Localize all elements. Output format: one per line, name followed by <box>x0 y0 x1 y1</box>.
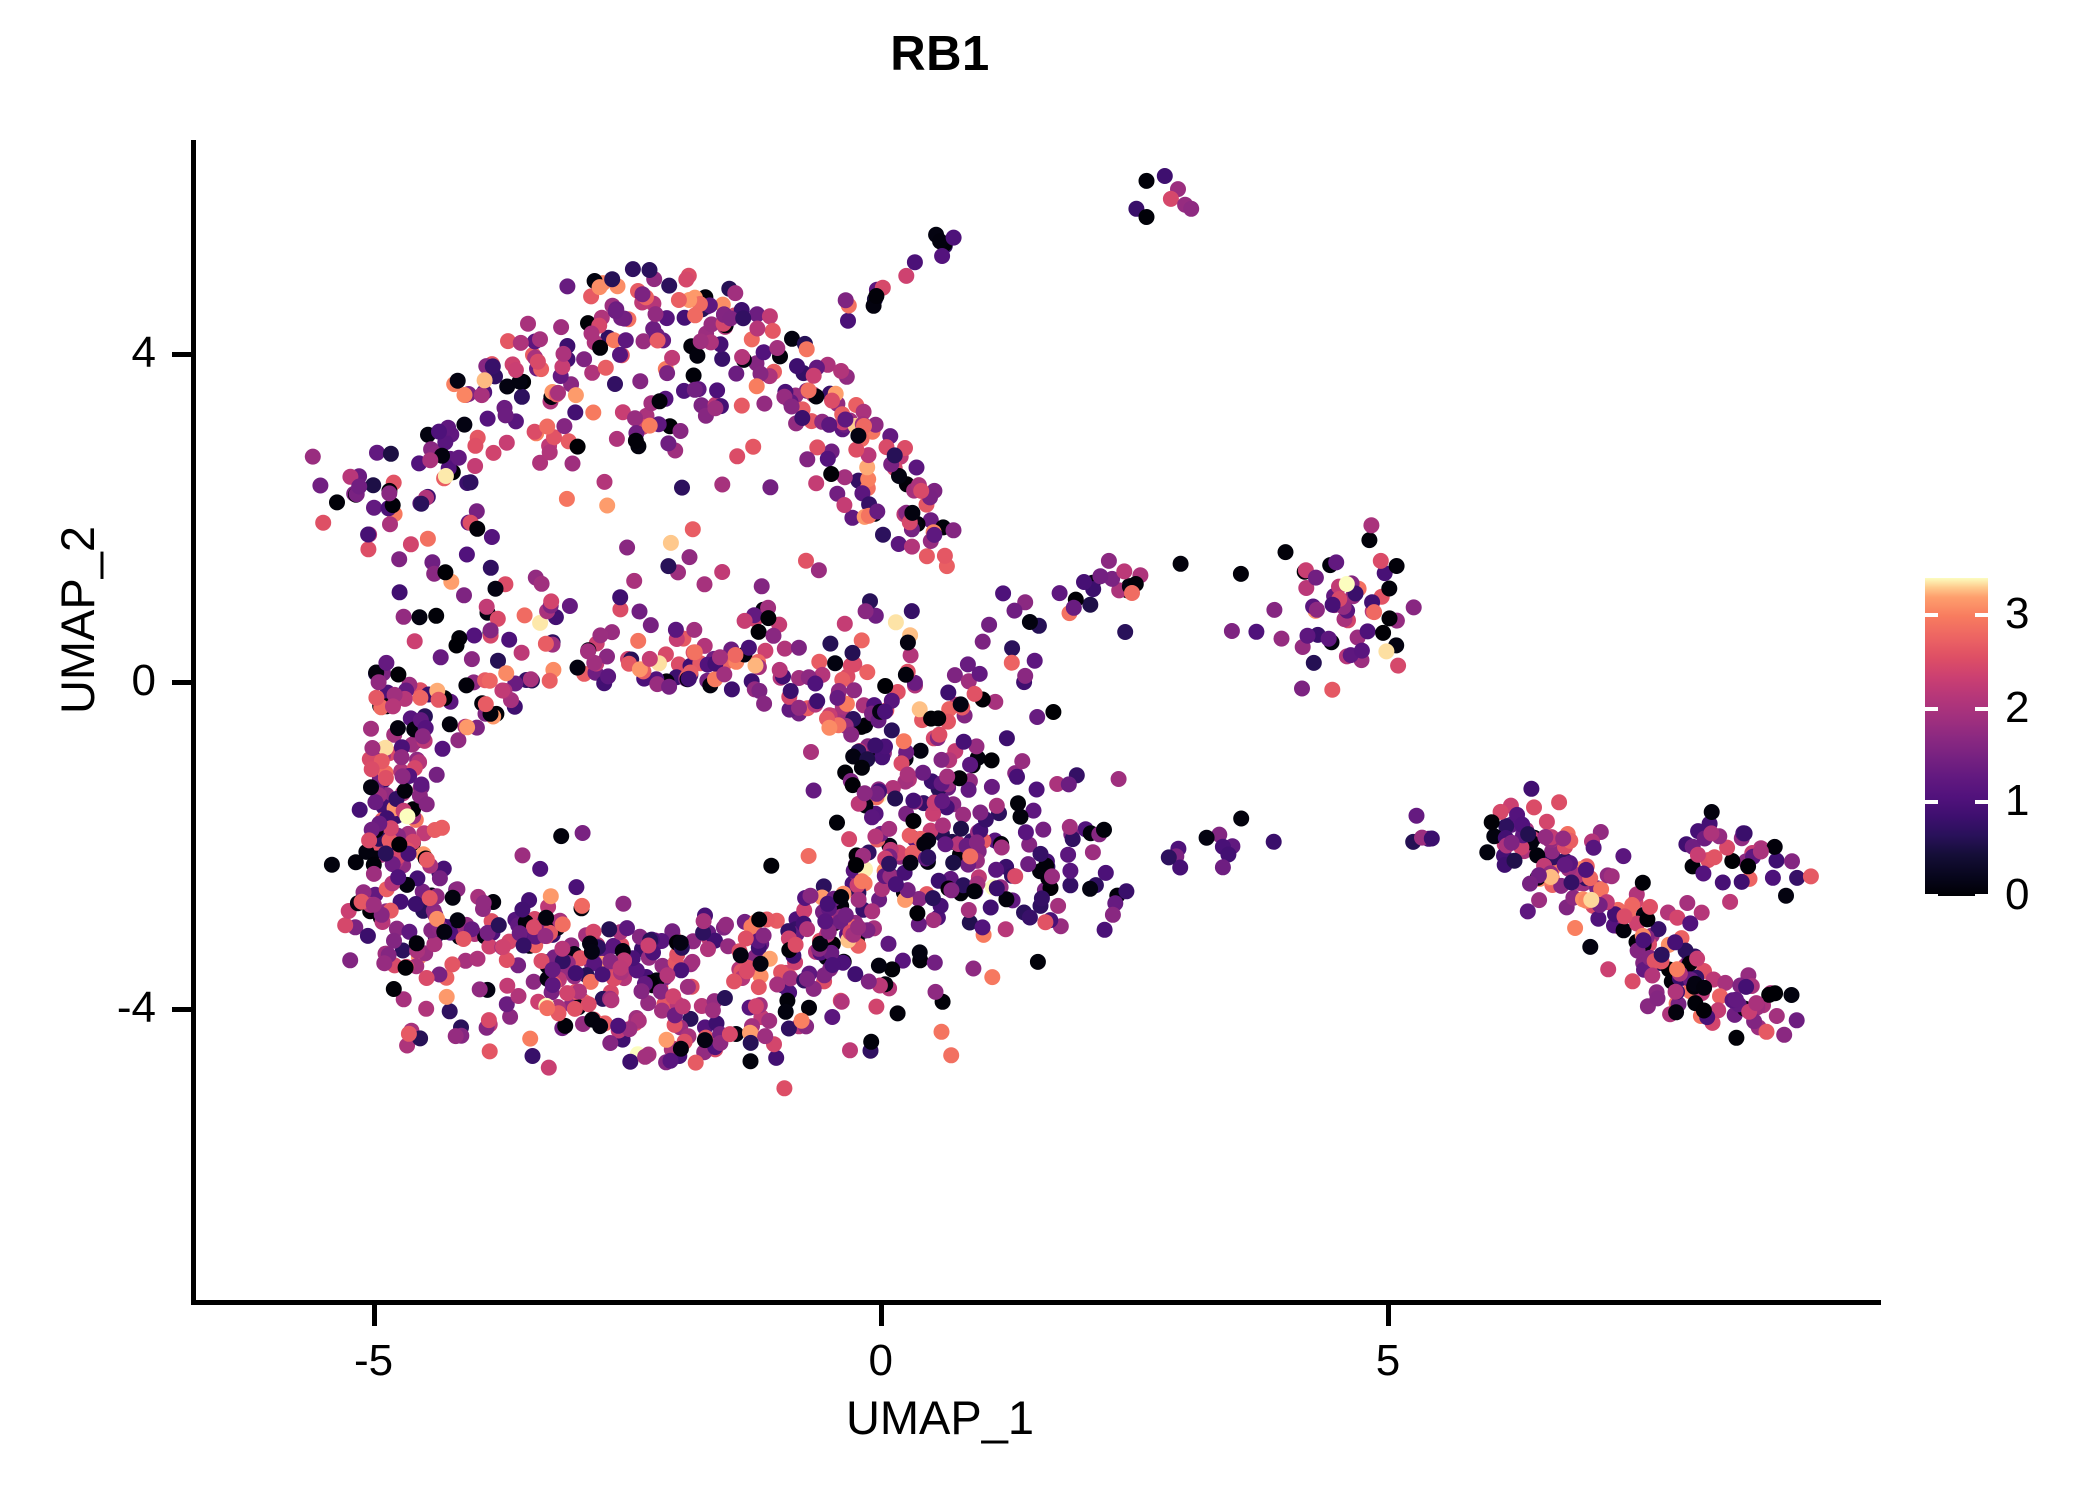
scatter-point <box>864 903 880 919</box>
scatter-point <box>619 920 635 936</box>
scatter-point <box>574 898 590 914</box>
scatter-point <box>413 496 429 512</box>
scatter-point <box>467 438 483 454</box>
scatter-point <box>972 805 988 821</box>
scatter-point <box>956 734 972 750</box>
scatter-point <box>1007 868 1023 884</box>
scatter-point <box>464 651 480 667</box>
scatter-point <box>398 960 414 976</box>
scatter-point <box>368 690 384 706</box>
scatter-point <box>364 740 380 756</box>
scatter-point <box>685 521 701 537</box>
scatter-point <box>1224 623 1240 639</box>
x-tick-label: -5 <box>274 1336 474 1386</box>
scatter-point <box>913 483 929 499</box>
scatter-point <box>896 733 912 749</box>
scatter-point <box>442 1003 458 1019</box>
scatter-point <box>413 777 429 793</box>
scatter-point <box>553 319 569 335</box>
scatter-point <box>385 698 401 714</box>
scatter-point <box>1022 910 1038 926</box>
scatter-point <box>415 728 431 744</box>
scatter-point <box>394 749 410 765</box>
scatter-point <box>360 928 376 944</box>
scatter-point <box>408 896 424 912</box>
scatter-point <box>801 848 817 864</box>
scatter-panel <box>196 140 1880 1300</box>
scatter-point <box>483 560 499 576</box>
scatter-point <box>806 783 822 799</box>
scatter-point <box>366 866 382 882</box>
scatter-point <box>568 879 584 895</box>
scatter-point <box>1636 932 1652 948</box>
scatter-point <box>598 360 614 376</box>
scatter-point <box>733 947 749 963</box>
scatter-point <box>1118 883 1134 899</box>
scatter-point <box>857 785 873 801</box>
scatter-point <box>668 622 684 638</box>
scatter-point <box>1361 532 1377 548</box>
scatter-point <box>945 855 961 871</box>
scatter-point <box>1066 600 1082 616</box>
scatter-point <box>902 828 918 844</box>
scatter-point <box>937 548 953 564</box>
scatter-point <box>592 340 608 356</box>
scatter-point <box>431 424 447 440</box>
scatter-point <box>714 564 730 580</box>
scatter-point <box>604 271 620 287</box>
scatter-point <box>660 558 676 574</box>
scatter-point <box>714 351 730 367</box>
scatter-point <box>1363 517 1379 533</box>
scatter-point <box>887 447 903 463</box>
scatter-point <box>820 451 836 467</box>
scatter-point <box>751 912 767 928</box>
scatter-point <box>324 857 340 873</box>
scatter-point <box>838 292 854 308</box>
scatter-point <box>381 485 397 501</box>
scatter-point <box>900 767 916 783</box>
scatter-point <box>543 888 559 904</box>
scatter-point <box>1044 868 1060 884</box>
scatter-point <box>1161 849 1177 865</box>
scatter-point <box>904 505 920 521</box>
scatter-point <box>934 752 950 768</box>
scatter-point <box>514 645 530 661</box>
scatter-point <box>466 628 482 644</box>
scatter-point <box>1507 853 1523 869</box>
scatter-point <box>1537 829 1553 845</box>
scatter-point <box>576 351 592 367</box>
scatter-point <box>1009 769 1025 785</box>
scatter-point <box>760 610 776 626</box>
scatter-point <box>843 727 859 743</box>
scatter-point <box>523 671 539 687</box>
scatter-point <box>395 768 411 784</box>
scatter-point <box>687 307 703 323</box>
scatter-point <box>1101 553 1117 569</box>
scatter-point <box>438 468 454 484</box>
scatter-point <box>483 622 499 638</box>
scatter-point <box>456 417 472 433</box>
scatter-point <box>904 539 920 555</box>
scatter-point <box>830 690 846 706</box>
scatter-point <box>610 1018 626 1034</box>
scatter-point <box>450 373 466 389</box>
colorbar-tick-mark <box>1925 707 1938 711</box>
scatter-point <box>584 365 600 381</box>
scatter-point <box>1306 655 1322 671</box>
scatter-point <box>448 1028 464 1044</box>
scatter-point <box>642 262 658 278</box>
scatter-point <box>984 779 1000 795</box>
scatter-point <box>761 1013 777 1029</box>
scatter-point <box>539 1000 555 1016</box>
scatter-point <box>1748 995 1764 1011</box>
scatter-point <box>1007 603 1023 619</box>
scatter-point <box>1360 623 1376 639</box>
scatter-point <box>863 1034 879 1050</box>
scatter-point <box>396 609 412 625</box>
scatter-point <box>1689 951 1705 967</box>
colorbar-tick-mark <box>1975 707 1988 711</box>
scatter-point <box>508 362 524 378</box>
scatter-point <box>660 435 676 451</box>
scatter-point <box>1734 874 1750 890</box>
scatter-point <box>877 678 893 694</box>
scatter-point <box>539 419 555 435</box>
scatter-point <box>526 974 542 990</box>
scatter-point <box>854 873 870 889</box>
umap-feature-plot: RB1 40-4 -505 UMAP_2 UMAP_1 3210 <box>0 0 2100 1500</box>
scatter-point <box>575 825 591 841</box>
scatter-point <box>1233 566 1249 582</box>
scatter-point <box>628 433 644 449</box>
scatter-point <box>1654 947 1670 963</box>
scatter-point <box>602 1035 618 1051</box>
scatter-point <box>905 813 921 829</box>
scatter-point <box>556 418 572 434</box>
scatter-point <box>827 655 843 671</box>
scatter-point <box>1027 653 1043 669</box>
scatter-point <box>542 673 558 689</box>
scatter-point <box>1582 939 1598 955</box>
scatter-point <box>890 1005 906 1021</box>
scatter-point <box>766 628 782 644</box>
scatter-point <box>1484 814 1500 830</box>
colorbar-tick-label: 0 <box>2005 873 2029 917</box>
scatter-point <box>450 912 466 928</box>
scatter-point <box>376 955 392 971</box>
scatter-point <box>556 346 572 362</box>
scatter-point <box>847 966 863 982</box>
scatter-point <box>315 515 331 531</box>
scatter-point <box>559 985 575 1001</box>
scatter-point <box>821 417 837 433</box>
scatter-point <box>912 944 928 960</box>
scatter-point <box>869 504 885 520</box>
scatter-point <box>967 686 983 702</box>
scatter-point <box>784 399 800 415</box>
scatter-point <box>716 666 732 682</box>
y-tick-mark <box>172 1007 193 1012</box>
scatter-point <box>700 941 716 957</box>
scatter-point <box>515 847 531 863</box>
scatter-point <box>808 475 824 491</box>
scatter-point <box>409 935 425 951</box>
x-tick-label: 5 <box>1288 1336 1488 1386</box>
scatter-point <box>1424 831 1440 847</box>
scatter-point <box>482 1043 498 1059</box>
scatter-point <box>1325 597 1341 613</box>
scatter-point <box>791 640 807 656</box>
scatter-point <box>999 730 1015 746</box>
scatter-point <box>1092 568 1108 584</box>
scatter-point <box>348 854 364 870</box>
scatter-point <box>875 527 891 543</box>
scatter-point <box>499 978 515 994</box>
scatter-point <box>718 917 734 933</box>
scatter-point <box>833 889 849 905</box>
scatter-points <box>196 140 1880 1300</box>
scatter-point <box>1004 655 1020 671</box>
scatter-point <box>1076 574 1092 590</box>
scatter-point <box>799 451 815 467</box>
scatter-point <box>456 587 472 603</box>
scatter-point <box>436 924 452 940</box>
scatter-point <box>635 286 651 302</box>
scatter-point <box>637 1049 653 1065</box>
scatter-point <box>955 807 971 823</box>
scatter-point <box>1116 563 1132 579</box>
scatter-point <box>739 963 755 979</box>
scatter-point <box>580 643 596 659</box>
scatter-point <box>1520 826 1536 842</box>
scatter-point <box>627 410 643 426</box>
scatter-point <box>422 452 438 468</box>
scatter-point <box>903 855 919 871</box>
scatter-point <box>491 917 507 933</box>
scatter-point <box>888 614 904 630</box>
scatter-point <box>756 696 772 712</box>
scatter-point <box>1682 915 1698 931</box>
scatter-point <box>494 683 510 699</box>
scatter-point <box>806 368 822 384</box>
scatter-point <box>632 373 648 389</box>
scatter-point <box>932 233 948 249</box>
scatter-point <box>962 848 978 864</box>
scatter-point <box>584 944 600 960</box>
scatter-point <box>625 261 641 277</box>
scatter-point <box>1753 844 1769 860</box>
scatter-point <box>342 952 358 968</box>
scatter-point <box>934 793 950 809</box>
x-tick-mark <box>1386 1305 1391 1326</box>
scatter-point <box>984 752 1000 768</box>
scatter-point <box>998 921 1014 937</box>
scatter-point <box>953 821 969 837</box>
scatter-point <box>778 1004 794 1020</box>
scatter-point <box>822 636 838 652</box>
scatter-point <box>352 802 368 818</box>
scatter-point <box>365 477 381 493</box>
scatter-point <box>969 834 985 850</box>
scatter-point <box>513 335 529 351</box>
scatter-point <box>799 921 815 937</box>
scatter-point <box>459 719 475 735</box>
scatter-point <box>391 551 407 567</box>
scatter-point <box>1604 868 1620 884</box>
scatter-point <box>811 562 827 578</box>
scatter-point <box>913 743 929 759</box>
scatter-point <box>868 288 884 304</box>
scatter-point <box>829 815 845 831</box>
scatter-point <box>836 497 852 513</box>
x-axis-line <box>191 1300 1881 1305</box>
scatter-point <box>1085 844 1101 860</box>
y-tick-mark <box>172 352 193 357</box>
scatter-point <box>664 350 680 366</box>
scatter-point <box>763 858 779 874</box>
scatter-point <box>1679 895 1695 911</box>
scatter-point <box>689 348 705 364</box>
scatter-point <box>769 340 785 356</box>
scatter-point <box>749 321 765 337</box>
scatter-point <box>337 917 353 933</box>
scatter-point <box>864 809 880 825</box>
scatter-point <box>724 681 740 697</box>
scatter-point <box>613 960 629 976</box>
scatter-point <box>881 821 897 837</box>
scatter-point <box>312 478 328 494</box>
scatter-point <box>329 494 345 510</box>
scatter-point <box>1183 201 1199 217</box>
scatter-point <box>994 840 1010 856</box>
colorbar-tick-mark <box>1975 894 1988 898</box>
scatter-point <box>458 677 474 693</box>
scatter-point <box>1004 640 1020 656</box>
scatter-point <box>817 913 833 929</box>
scatter-point <box>1564 875 1580 891</box>
scatter-point <box>360 527 376 543</box>
scatter-point <box>382 516 398 532</box>
scatter-point <box>514 902 530 918</box>
scatter-point <box>877 704 893 720</box>
scatter-point <box>984 969 1000 985</box>
colorbar-tick-label: 2 <box>2005 686 2029 730</box>
scatter-point <box>1722 894 1738 910</box>
scatter-point <box>568 387 584 403</box>
scatter-point <box>1014 753 1030 769</box>
scatter-point <box>1740 858 1756 874</box>
scatter-point <box>562 598 578 614</box>
scatter-point <box>681 671 697 687</box>
scatter-point <box>1097 922 1113 938</box>
scatter-point <box>390 667 406 683</box>
scatter-point <box>983 900 999 916</box>
scatter-point <box>1010 795 1026 811</box>
scatter-point <box>642 651 658 667</box>
scatter-point <box>386 933 402 949</box>
scatter-point <box>687 382 703 398</box>
scatter-point <box>697 1032 713 1048</box>
scatter-point <box>386 981 402 997</box>
scatter-point <box>909 460 925 476</box>
scatter-point <box>841 831 857 847</box>
scatter-point <box>675 999 691 1015</box>
scatter-point <box>867 829 883 845</box>
scatter-point <box>680 979 696 995</box>
scatter-point <box>686 368 702 384</box>
scatter-point <box>749 378 765 394</box>
scatter-point <box>407 633 423 649</box>
scatter-point <box>789 358 805 374</box>
scatter-point <box>1030 954 1046 970</box>
scatter-point <box>1105 907 1121 923</box>
scatter-point <box>369 445 385 461</box>
colorbar-tick-mark <box>1925 894 1938 898</box>
scatter-point <box>881 936 897 952</box>
scatter-point <box>1526 799 1542 815</box>
scatter-point <box>659 365 675 381</box>
scatter-point <box>642 418 658 434</box>
scatter-point <box>1555 831 1571 847</box>
scatter-point <box>1082 881 1098 897</box>
scatter-point <box>776 1080 792 1096</box>
y-axis-label: UMAP_2 <box>50 270 105 970</box>
scatter-point <box>837 412 853 428</box>
scatter-point <box>597 474 613 490</box>
scatter-point <box>568 965 584 981</box>
scatter-point <box>1034 890 1050 906</box>
scatter-point <box>392 584 408 600</box>
scatter-point <box>476 895 492 911</box>
colorbar-legend: 3210 <box>1925 578 2085 898</box>
scatter-point <box>1803 868 1819 884</box>
x-axis-label: UMAP_1 <box>0 1390 1880 1445</box>
scatter-point <box>469 521 485 537</box>
colorbar-tick-mark <box>1925 800 1938 804</box>
scatter-point <box>412 690 428 706</box>
scatter-point <box>751 624 767 640</box>
scatter-point <box>525 1048 541 1064</box>
scatter-point <box>682 549 698 565</box>
scatter-point <box>1784 853 1800 869</box>
scatter-point <box>1096 822 1112 838</box>
scatter-point <box>1037 914 1053 930</box>
scatter-point <box>1523 781 1539 797</box>
scatter-point <box>418 1001 434 1017</box>
scatter-point <box>842 1042 858 1058</box>
scatter-point <box>482 673 498 689</box>
scatter-point <box>437 564 453 580</box>
scatter-point <box>1769 853 1785 869</box>
scatter-point <box>845 645 861 661</box>
scatter-point <box>1124 585 1140 601</box>
scatter-point <box>854 760 870 776</box>
scatter-point <box>565 456 581 472</box>
scatter-point <box>351 479 367 495</box>
scatter-point <box>735 310 751 326</box>
scatter-point <box>615 896 631 912</box>
scatter-point <box>419 970 435 986</box>
scatter-point <box>538 910 554 926</box>
scatter-point <box>738 931 754 947</box>
scatter-point <box>661 679 677 695</box>
scatter-point <box>783 683 799 699</box>
scatter-point <box>858 603 874 619</box>
scatter-point <box>467 458 483 474</box>
